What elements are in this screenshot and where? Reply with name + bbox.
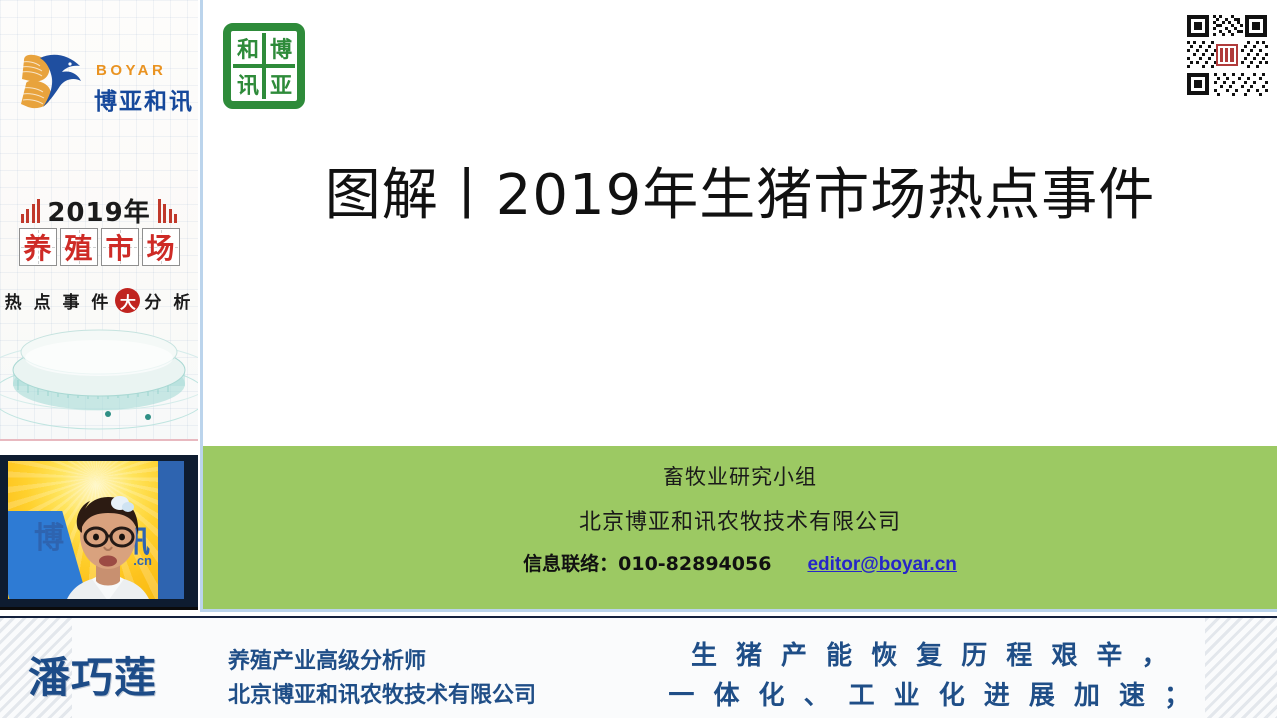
poster-sidebar: BOYAR 博亚和讯 2019年 养 殖 市 场 热 点 事 件 大 分 析	[0, 0, 198, 441]
brand-english-name: BOYAR	[96, 62, 166, 79]
banner-slogan-line1: 生 猪 产 能 恢 复 历 程 艰 辛 ，	[668, 636, 1195, 676]
market-char: 场	[146, 227, 174, 267]
banner-slogan: 生 猪 产 能 恢 复 历 程 艰 辛 ， 一 体 化 、 工 业 化 进 展 …	[668, 636, 1195, 717]
market-char-box: 养	[19, 228, 57, 266]
bar-decoration-right-icon	[158, 199, 178, 223]
boyar-bird-logo-icon	[18, 50, 92, 116]
speaker-name: 潘巧莲	[28, 644, 157, 705]
svg-text:亚: 亚	[270, 74, 292, 99]
boyar-green-seal-icon: 和 博 讯 亚	[223, 23, 305, 109]
svg-text:和: 和	[237, 38, 259, 63]
brand-chinese-name: 博亚和讯	[94, 82, 194, 116]
bar-decoration-left-icon	[21, 199, 41, 223]
banner-slogan-line2: 一 体 化 、 工 业 化 进 展 加 速 ；	[668, 676, 1195, 716]
speaker-title: 养殖产业高级分析师	[228, 645, 536, 679]
footer-contact-row: 信息联络：010-82894056 editor@boyar.cn	[523, 549, 957, 576]
presenter-figure-icon	[52, 489, 164, 599]
presenter-video-feed[interactable]: 博 讯 .cn	[0, 455, 198, 610]
market-char-box: 场	[142, 228, 180, 266]
qr-code-icon[interactable]	[1183, 11, 1271, 99]
speaker-company: 北京博亚和讯农牧技术有限公司	[228, 679, 536, 713]
slide-viewer: BOYAR 博亚和讯 2019年 养 殖 市 场 热 点 事 件 大 分 析	[0, 0, 1277, 718]
speaker-meta: 养殖产业高级分析师 北京博亚和讯农牧技术有限公司	[228, 645, 536, 713]
market-char: 养	[23, 227, 51, 267]
footer-contact-label: 信息联络：	[523, 553, 618, 575]
presenter-banner: 潘巧莲 养殖产业高级分析师 北京博亚和讯农牧技术有限公司 生 猪 产 能 恢 复…	[0, 616, 1277, 718]
svg-text:讯: 讯	[237, 74, 259, 99]
poster-year-text: 2019年	[47, 192, 150, 229]
footer-email-link[interactable]: editor@boyar.cn	[807, 554, 956, 576]
banner-stripe-right	[1205, 618, 1277, 718]
svg-text:博: 博	[270, 37, 292, 63]
market-char: 市	[105, 227, 133, 267]
poster-subtitle-highlight: 大	[115, 288, 140, 313]
market-char: 殖	[64, 227, 92, 267]
slide-title: 图解丨2019年生猪市场热点事件	[203, 168, 1277, 224]
footer-group-name: 畜牧业研究小组	[663, 461, 817, 491]
poster-subtitle-prefix: 热 点 事 件	[5, 288, 112, 313]
glass-podium-icon	[0, 318, 198, 436]
poster-subtitle-row: 热 点 事 件 大 分 析	[0, 288, 198, 313]
slide-content: 和 博 讯 亚	[200, 0, 1277, 612]
poster-market-chars: 养 殖 市 场	[0, 228, 198, 266]
market-char-box: 殖	[60, 228, 98, 266]
footer-phone-number: 010-82894056	[618, 553, 771, 575]
footer-contact-phone: 信息联络：010-82894056	[523, 549, 771, 576]
footer-company-name: 北京博亚和讯农牧技术有限公司	[579, 504, 901, 536]
market-char-box: 市	[101, 228, 139, 266]
poster-year-row: 2019年	[0, 192, 198, 229]
video-backdrop: 博 讯 .cn	[8, 461, 184, 599]
poster-subtitle-suffix: 分 析	[144, 288, 193, 313]
boyar-brand-logo: BOYAR 博亚和讯	[12, 48, 184, 120]
slide-footer-band: 畜牧业研究小组 北京博亚和讯农牧技术有限公司 信息联络：010-82894056…	[203, 446, 1277, 609]
